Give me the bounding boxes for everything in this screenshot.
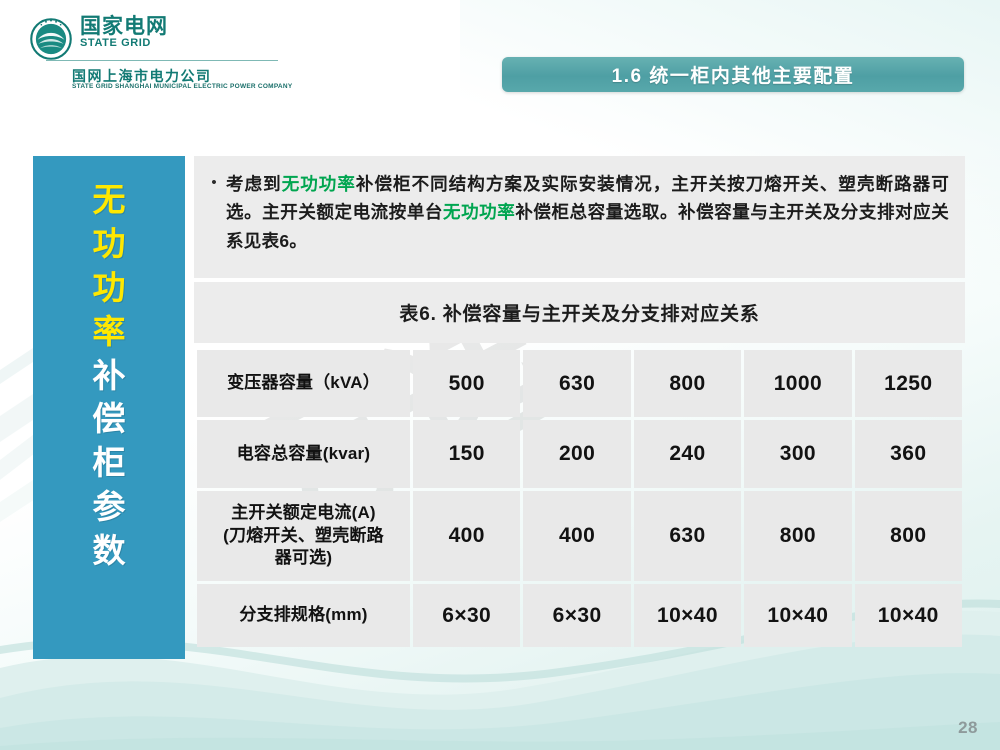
table-row-label: 变压器容量（kVA） <box>197 350 410 417</box>
slide-title: 1.6 统一柜内其他主要配置 <box>612 61 855 88</box>
table-cell: 240 <box>634 420 741 488</box>
table-cell: 800 <box>744 491 851 581</box>
table-row-label-line: (刀熔开关、塑壳断路 <box>197 525 410 547</box>
table-cell: 630 <box>523 350 630 417</box>
sidebar-char-highlight: 功 <box>93 266 126 310</box>
slide-title-bar: 1.6 统一柜内其他主要配置 <box>502 57 964 92</box>
table-row-label-line: 变压器容量（kVA） <box>197 372 410 394</box>
table-row: 电容总容量(kvar)150200240300360 <box>197 420 962 488</box>
table-row: 分支排规格(mm)6×306×3010×4010×4010×40 <box>197 584 962 647</box>
table-caption-panel: 表6. 补偿容量与主开关及分支排对应关系 <box>194 282 965 343</box>
table-cell: 800 <box>634 350 741 417</box>
paragraph-text: 考虑到无功功率补偿柜不同结构方案及实际安装情况，主开关按刀熔开关、塑壳断路器可选… <box>226 170 949 255</box>
company-name-en: STATE GRID SHANGHAI MUNICIPAL ELECTRIC P… <box>72 83 292 90</box>
table-row-label: 主开关额定电流(A)(刀熔开关、塑壳断路器可选) <box>197 491 410 581</box>
table-cell: 800 <box>855 491 962 581</box>
sidebar-char-plain: 补 <box>93 354 126 398</box>
table-cell: 6×30 <box>523 584 630 647</box>
table-cell: 10×40 <box>744 584 851 647</box>
page-number: 28 <box>958 718 978 738</box>
table-cell: 1000 <box>744 350 851 417</box>
paragraph-highlight: 无功功率 <box>282 174 356 194</box>
table-cell: 200 <box>523 420 630 488</box>
sidebar-char-highlight: 功 <box>93 222 126 266</box>
table-cell: 400 <box>413 491 520 581</box>
table-row-label: 电容总容量(kvar) <box>197 420 410 488</box>
brand-logo-block: 国家电网 STATE GRID <box>30 16 168 60</box>
sidebar-char-plain: 柜 <box>93 441 126 485</box>
table-cell: 1250 <box>855 350 962 417</box>
bullet-marker-icon: • <box>202 170 226 191</box>
sidebar-char-highlight: 率 <box>93 310 126 354</box>
table-cell: 150 <box>413 420 520 488</box>
brand-divider <box>46 60 278 61</box>
table-row: 变压器容量（kVA）50063080010001250 <box>197 350 962 417</box>
slide: 万选 国家电网 STATE GRID 国网上海市电力公司 STATE GRID … <box>0 0 1000 750</box>
table-cell: 300 <box>744 420 851 488</box>
sidebar-char-plain: 偿 <box>93 397 126 441</box>
table-row-label-line: 分支排规格(mm) <box>197 604 410 626</box>
sidebar-char-plain: 参 <box>93 485 126 529</box>
brand-name-en: STATE GRID <box>80 37 168 51</box>
sidebar-char-highlight: 无 <box>93 178 126 222</box>
table-cell: 400 <box>523 491 630 581</box>
state-grid-emblem-icon <box>30 18 72 60</box>
table-cell: 360 <box>855 420 962 488</box>
sidebar-char-plain: 数 <box>93 529 126 573</box>
table-row-label-line: 主开关额定电流(A) <box>197 502 410 524</box>
table-row-label: 分支排规格(mm) <box>197 584 410 647</box>
table-row-label-line: 电容总容量(kvar) <box>197 443 410 465</box>
table-row-label-line: 器可选) <box>197 547 410 569</box>
table-row: 主开关额定电流(A)(刀熔开关、塑壳断路器可选)400400630800800 <box>197 491 962 581</box>
paragraph-segment: 考虑到 <box>226 174 282 194</box>
compensation-table: 变压器容量（kVA）50063080010001250电容总容量(kvar)15… <box>194 347 965 650</box>
paragraph-panel: • 考虑到无功功率补偿柜不同结构方案及实际安装情况，主开关按刀熔开关、塑壳断路器… <box>194 156 965 278</box>
table-cell: 10×40 <box>634 584 741 647</box>
table-cell: 10×40 <box>855 584 962 647</box>
brand-name-cn: 国家电网 <box>80 16 168 37</box>
table-cell: 630 <box>634 491 741 581</box>
table-cell: 500 <box>413 350 520 417</box>
sidebar-vertical-title: 无功功率补偿柜参数 <box>33 156 185 659</box>
paragraph-highlight: 无功功率 <box>443 202 515 222</box>
table-caption: 表6. 补偿容量与主开关及分支排对应关系 <box>399 299 759 326</box>
table-cell: 6×30 <box>413 584 520 647</box>
